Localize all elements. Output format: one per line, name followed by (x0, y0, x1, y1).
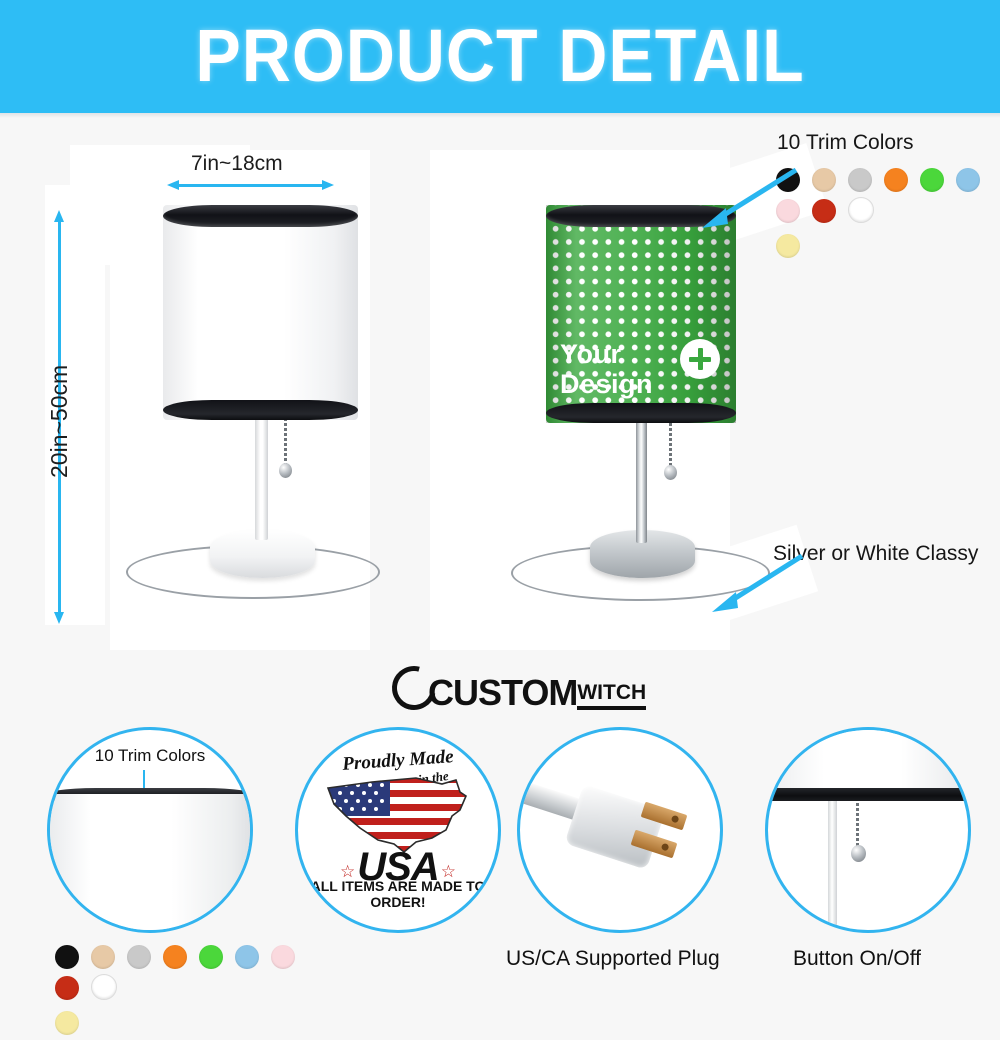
height-dimension-label: 20in~50cm (46, 365, 73, 478)
feature-circle-made-in-usa: Proudly Made in the (295, 727, 501, 933)
lamp-shade-white (163, 205, 358, 420)
logo-secondary: WITCH (577, 681, 646, 710)
width-dimension-arrow (167, 180, 334, 190)
shade-trim-bottom (163, 400, 358, 420)
your-design-line-1: Your (560, 339, 688, 369)
plug-body (565, 784, 666, 870)
swatch-tan[interactable] (91, 945, 115, 969)
mini-shade-surface (47, 794, 253, 933)
shade-bottom-surface (765, 730, 971, 790)
swatch-red[interactable] (812, 199, 836, 223)
logo-primary: CUSTOM (428, 676, 577, 710)
your-design-text: Your Design (560, 339, 688, 399)
swatch-gray[interactable] (127, 945, 151, 969)
pull-chain-ball (664, 465, 677, 480)
arrow-shaft (177, 184, 324, 187)
page-banner: PRODUCT DETAIL (0, 0, 1000, 113)
pull-chain-ball (279, 463, 292, 478)
swatch-orange[interactable] (884, 168, 908, 192)
lamp-pole-white (255, 415, 268, 540)
plus-circle-icon (680, 339, 720, 379)
swatch-pink[interactable] (271, 945, 295, 969)
width-dimension-label: 7in~18cm (191, 152, 283, 176)
swatch-tan[interactable] (812, 168, 836, 192)
brand-logo: CUSTOM WITCH (392, 666, 646, 710)
feature-circle-trim-colors: 10 Trim Colors (47, 727, 253, 933)
shade-trim-bar (765, 788, 971, 801)
arrow-head-right (322, 180, 334, 190)
shade-trim-top (163, 205, 358, 227)
shade-surface (163, 205, 358, 420)
swatch-black[interactable] (55, 945, 79, 969)
trim-callout-arrow (692, 162, 802, 232)
bottom-trim-color-swatches (55, 945, 305, 1040)
swatch-gray[interactable] (848, 168, 872, 192)
swatch-green[interactable] (920, 168, 944, 192)
your-design-line-2: Design (560, 369, 688, 399)
banner-shadow (0, 113, 1000, 118)
swatch-light-blue[interactable] (235, 945, 259, 969)
feature-circle-switch (765, 727, 971, 933)
lamp-white (140, 200, 370, 640)
feature-circle-plug (517, 727, 723, 933)
plug-caption: US/CA Supported Plug (506, 947, 720, 971)
usa-subtext: ALL ITEMS ARE MADE TO ORDER! (298, 878, 498, 910)
product-detail-page: PRODUCT DETAIL 7in~18cm 20in~50cm (0, 0, 1000, 1000)
swatch-yellow[interactable] (55, 1011, 79, 1035)
base-finish-arrow (700, 548, 810, 618)
swatch-yellow[interactable] (776, 234, 800, 258)
pull-chain (284, 413, 287, 468)
lamp-pole (828, 801, 837, 931)
trim-colors-title: 10 Trim Colors (777, 131, 914, 155)
arrow-head-bottom (54, 612, 64, 624)
lamp-pole-silver (636, 418, 647, 543)
pull-chain-ball (851, 845, 866, 862)
shade-trim-bottom (546, 403, 736, 423)
swatch-white[interactable] (848, 197, 874, 223)
lamp-shade-green: Your Design (546, 205, 736, 423)
switch-caption: Button On/Off (793, 947, 921, 971)
swatch-white[interactable] (91, 974, 117, 1000)
trim-color-swatches (776, 168, 1000, 263)
pull-chain (856, 803, 859, 849)
page-title: PRODUCT DETAIL (40, 14, 960, 98)
swatch-green[interactable] (199, 945, 223, 969)
swatch-orange[interactable] (163, 945, 187, 969)
swatch-light-blue[interactable] (956, 168, 980, 192)
pull-chain (669, 418, 672, 470)
swatch-red[interactable] (55, 976, 79, 1000)
mini-trim-colors-label: 10 Trim Colors (50, 746, 250, 766)
